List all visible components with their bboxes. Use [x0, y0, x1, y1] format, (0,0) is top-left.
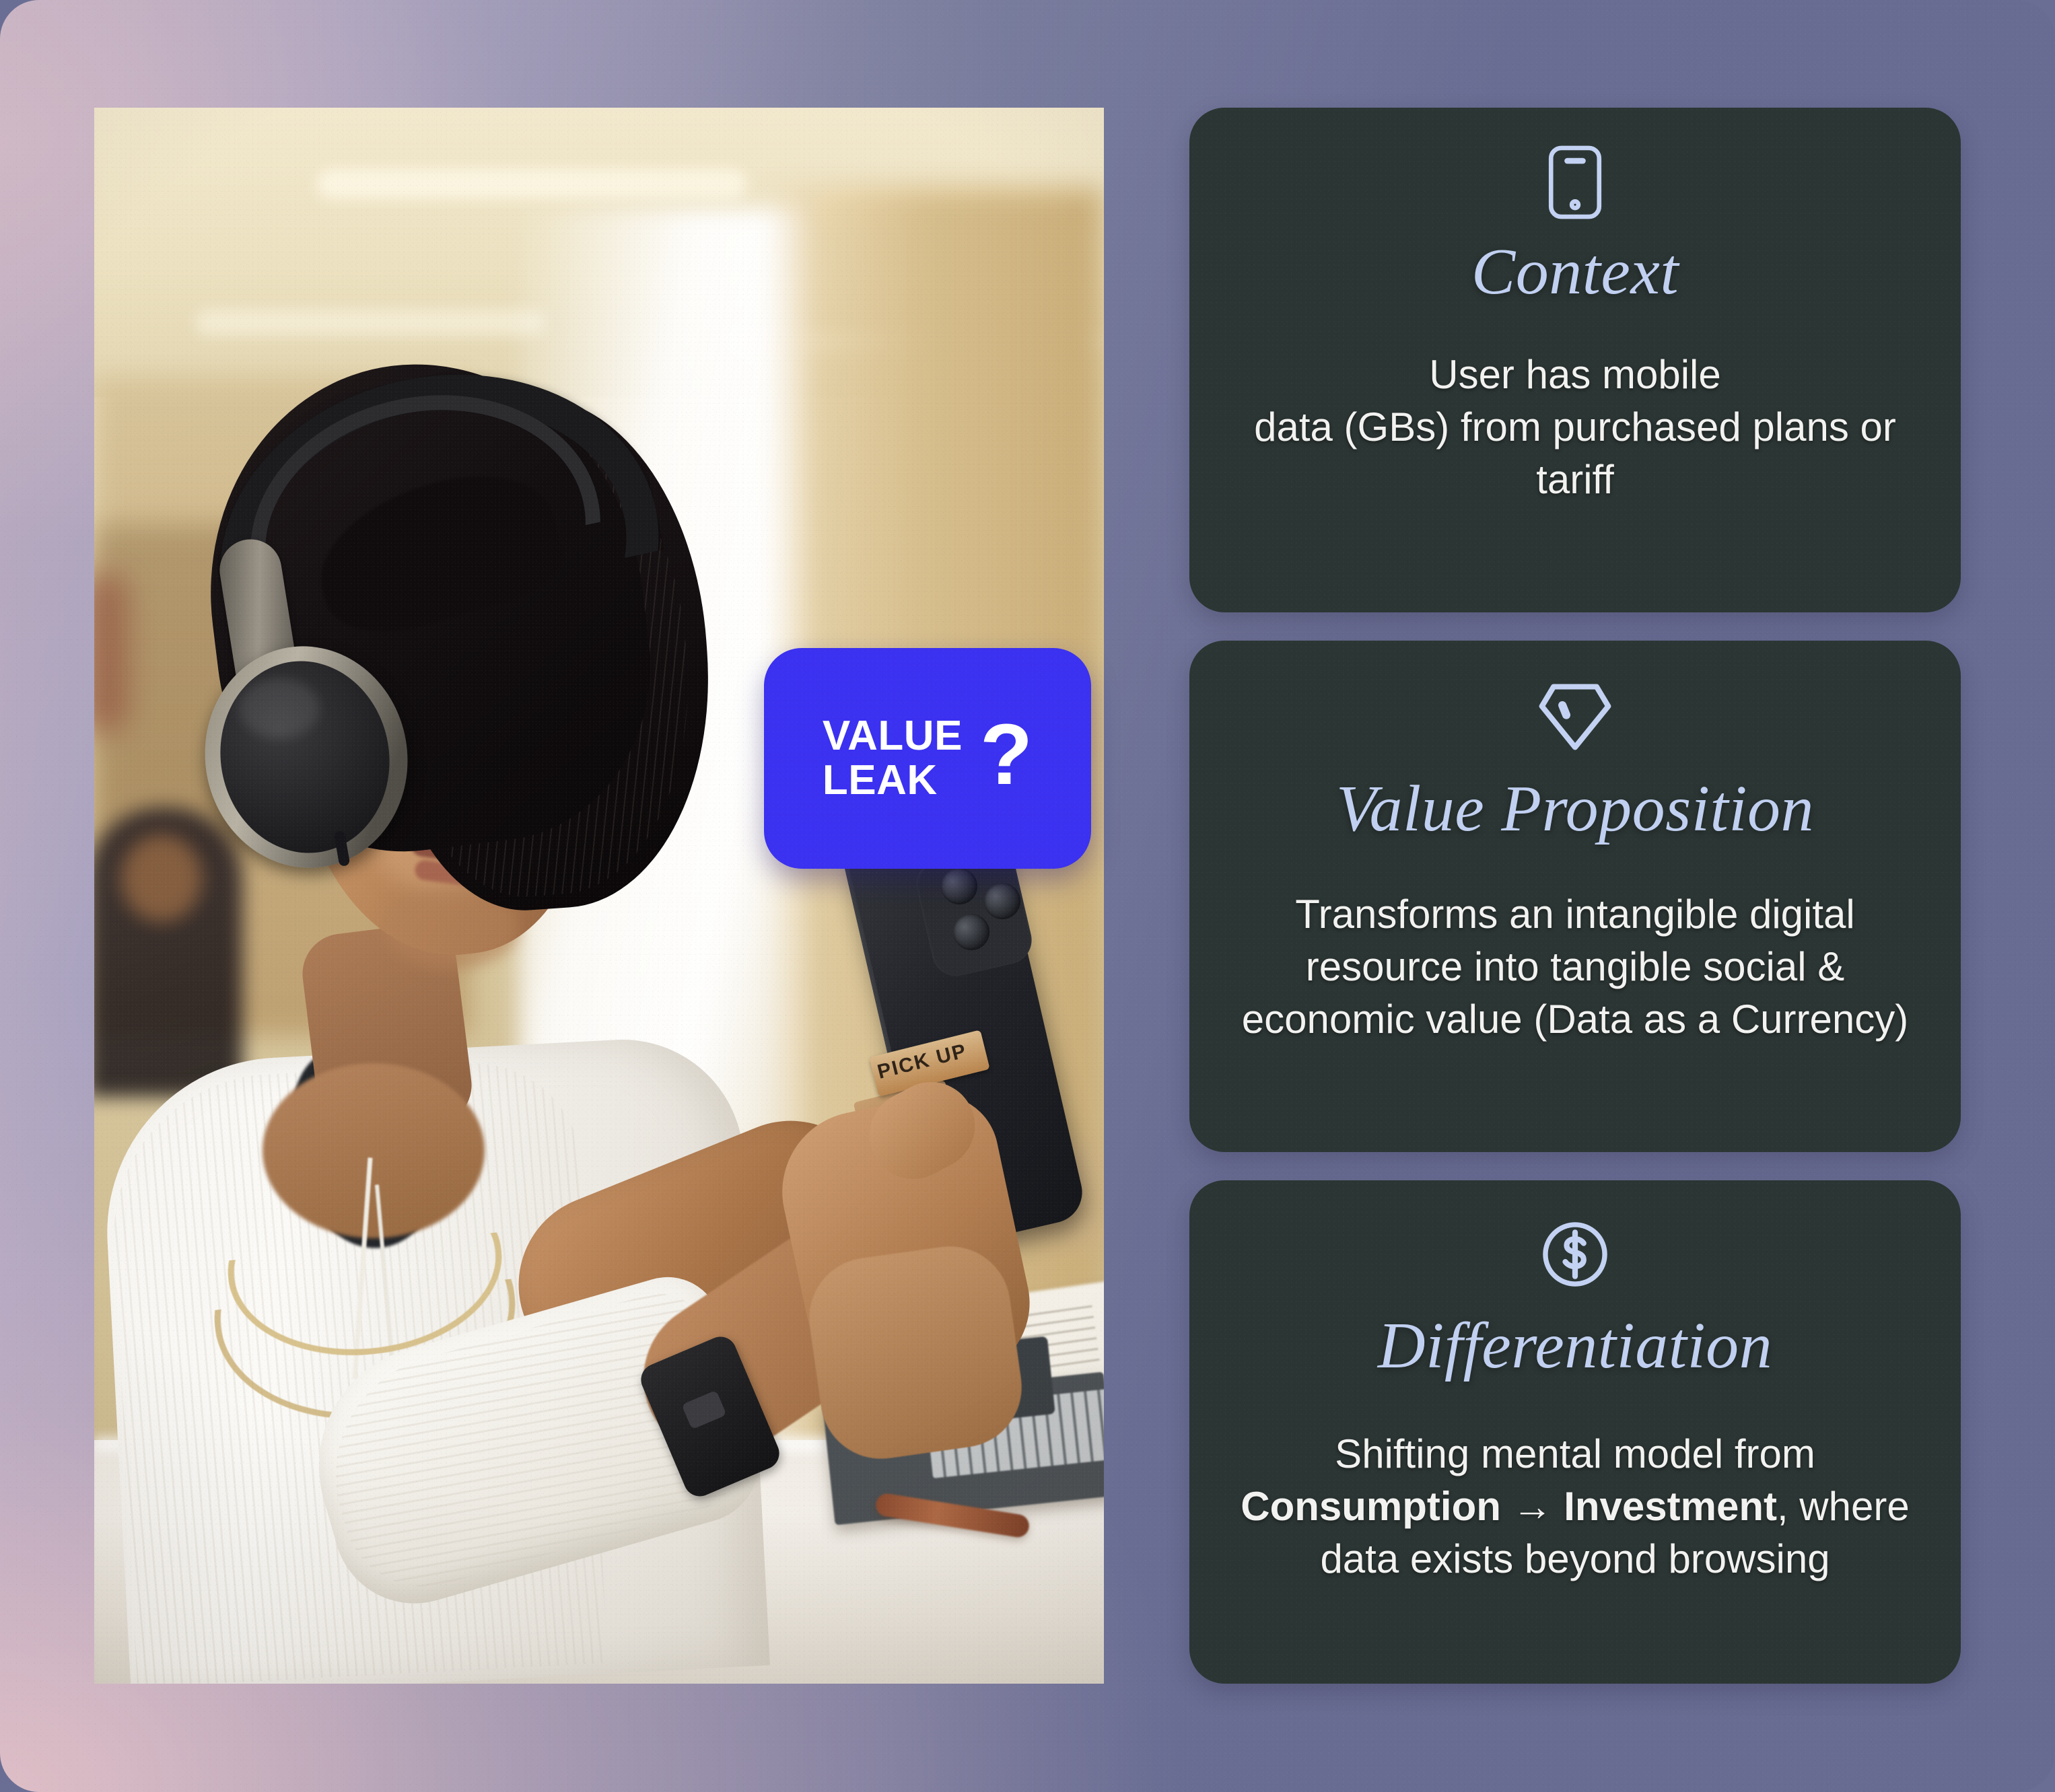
card-value-proposition-body-text: Transforms an intangible digital resourc… — [1242, 892, 1908, 1042]
value-leak-line-2: LEAK — [823, 758, 963, 803]
card-differentiation-body-lead: Shifting mental model from — [1335, 1431, 1815, 1476]
card-value-proposition-body: Transforms an intangible digital resourc… — [1235, 888, 1915, 1046]
photo-fingers — [802, 1239, 1030, 1467]
card-differentiation-title: Differentiation — [1378, 1308, 1772, 1384]
card-value-proposition: Value Proposition Transforms an intangib… — [1189, 641, 1961, 1152]
photo-headphone-highlight — [239, 678, 320, 739]
card-differentiation: Differentiation Shifting mental model fr… — [1189, 1180, 1961, 1684]
card-value-proposition-title: Value Proposition — [1336, 771, 1814, 847]
value-leak-badge: VALUE LEAK ? — [764, 648, 1091, 869]
info-card-column: Context User has mobile data (GBs) from … — [1189, 108, 1961, 1684]
card-differentiation-body: Shifting mental model fromConsumption → … — [1235, 1428, 1915, 1585]
photo-ceiling-light-3 — [195, 310, 545, 335]
hero-photo: PICK UP — [94, 108, 1104, 1684]
value-leak-line-1: VALUE — [823, 714, 963, 758]
photo-background-accent — [94, 572, 128, 733]
photo-chest — [263, 1063, 485, 1238]
photo-background-person-face — [121, 834, 202, 922]
dollar-coin-icon — [1539, 1218, 1611, 1291]
poster-canvas: PICK UP VALUE LEAK ? Context U — [0, 0, 2055, 1792]
card-context-body: User has mobile data (GBs) from purchase… — [1254, 349, 1896, 506]
card-differentiation-body-emphasis: Consumption → Investment — [1241, 1484, 1777, 1529]
diamond-gem-icon — [1536, 678, 1614, 754]
question-mark-icon: ? — [980, 712, 1033, 798]
photo-ceiling-light-1 — [316, 168, 747, 199]
card-context-body-text: User has mobile data (GBs) from purchase… — [1254, 352, 1896, 502]
card-context: Context User has mobile data (GBs) from … — [1189, 108, 1961, 612]
mobile-phone-icon — [1544, 143, 1606, 222]
card-context-title: Context — [1471, 234, 1679, 310]
value-leak-badge-words: VALUE LEAK — [823, 714, 963, 802]
